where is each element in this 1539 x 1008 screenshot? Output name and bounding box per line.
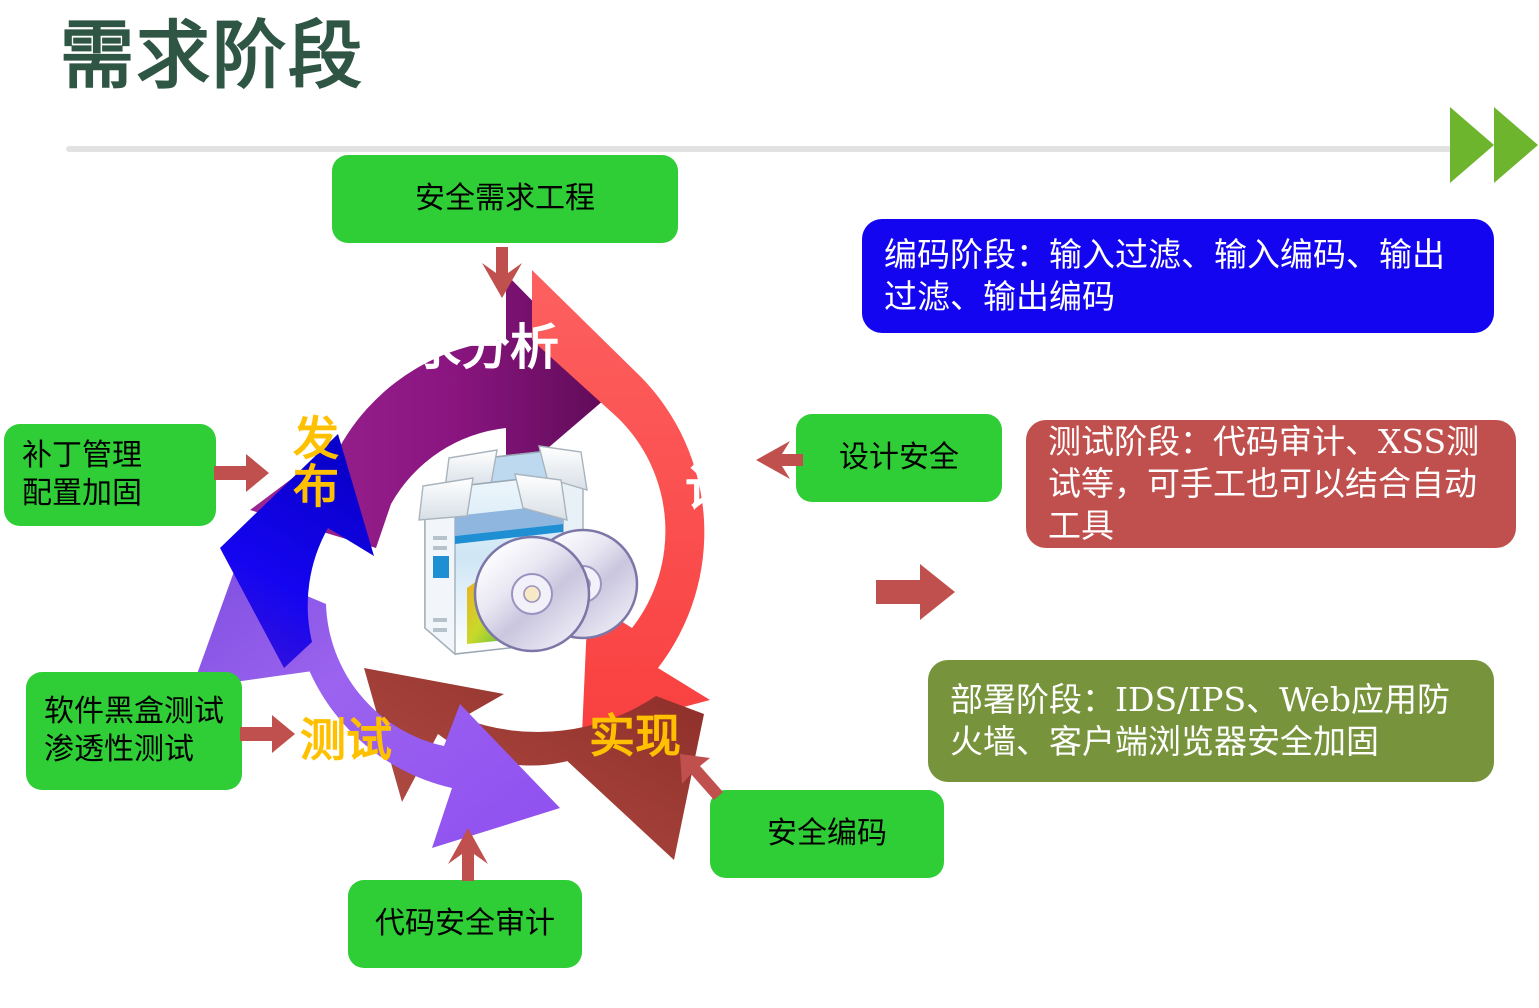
tip-box-deployment-phase[interactable]: 部署阶段：IDS/IPS、Web应用防火墙、客户端浏览器安全加固 bbox=[928, 660, 1494, 782]
green-label-secure-coding[interactable]: 安全编码 bbox=[710, 790, 944, 878]
green-label-text: 代码安全审计 bbox=[375, 905, 555, 943]
page-title: 需求阶段 bbox=[60, 18, 364, 96]
green-label-code-security-audit[interactable]: 代码安全审计 bbox=[348, 880, 582, 968]
slide-canvas: 需求阶段 bbox=[0, 0, 1539, 1008]
title-divider bbox=[66, 146, 1456, 152]
connector-arrow-to-design bbox=[756, 440, 804, 480]
green-label-text: 设计安全 bbox=[839, 439, 959, 477]
connector-arrow-to-release bbox=[214, 453, 270, 493]
connector-arrow-to-requirement bbox=[481, 247, 523, 299]
green-label-design-security[interactable]: 设计安全 bbox=[796, 414, 1002, 502]
green-label-blackbox-penetration-test[interactable]: 软件黑盒测试 渗透性测试 bbox=[26, 672, 242, 790]
green-label-text: 补丁管理 配置加固 bbox=[22, 437, 142, 514]
green-label-security-requirement-engineering[interactable]: 安全需求工程 bbox=[332, 155, 678, 243]
double-chevron-right-icon bbox=[1448, 101, 1539, 189]
connector-arrow-to-implement bbox=[676, 752, 726, 802]
green-label-patch-management-hardening[interactable]: 补丁管理 配置加固 bbox=[4, 424, 216, 526]
connector-arrow-to-test-bottom bbox=[447, 826, 489, 882]
green-label-text: 软件黑盒测试 渗透性测试 bbox=[44, 693, 224, 770]
tip-box-text: 测试阶段：代码审计、XSS测试等，可手工也可以结合自动工具 bbox=[1048, 421, 1494, 548]
tip-box-text: 编码阶段：输入过滤、输入编码、输出过滤、输出编码 bbox=[884, 234, 1472, 318]
green-label-text: 安全编码 bbox=[767, 815, 887, 853]
software-box-cd-icon bbox=[405, 432, 655, 660]
green-label-text: 安全需求工程 bbox=[415, 180, 595, 218]
connector-arrow-to-test-left bbox=[240, 714, 296, 754]
tip-box-coding-phase[interactable]: 编码阶段：输入过滤、输入编码、输出过滤、输出编码 bbox=[862, 219, 1494, 333]
tip-box-text: 部署阶段：IDS/IPS、Web应用防火墙、客户端浏览器安全加固 bbox=[950, 679, 1472, 763]
tip-box-testing-phase[interactable]: 测试阶段：代码审计、XSS测试等，可手工也可以结合自动工具 bbox=[1026, 420, 1516, 548]
connector-arrow-tip-flow bbox=[876, 562, 956, 622]
